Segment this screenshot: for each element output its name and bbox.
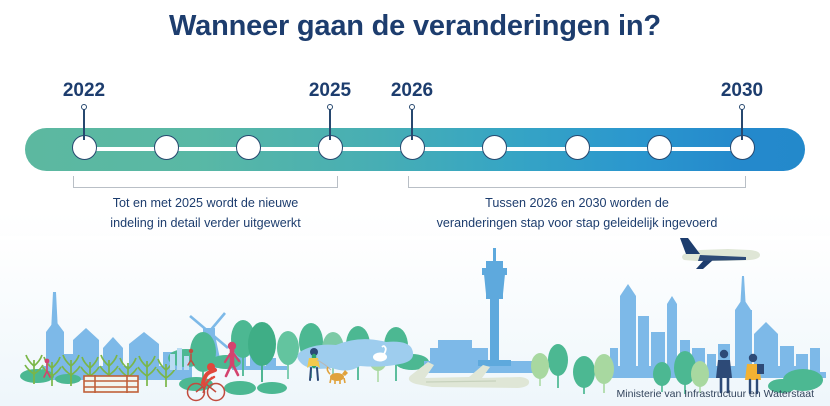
- segment-left-caption-line-2: indeling in detail verder uitgewerkt: [110, 214, 300, 234]
- leader-dot-2026: [409, 104, 415, 110]
- credit-text: Ministerie van Infrastructuur en Waterst…: [617, 388, 814, 400]
- leader-line-2025: [329, 108, 330, 140]
- segment-right-caption-line-2: veranderingen stap voor stap geleidelijk…: [437, 214, 718, 234]
- segment-left-bracket: [73, 176, 338, 188]
- timeline-node-2[interactable]: [154, 135, 179, 160]
- segment-right-bracket: [408, 176, 746, 188]
- leader-line-2022: [83, 108, 84, 140]
- timeline-node-8[interactable]: [647, 135, 672, 160]
- illustration: [0, 236, 830, 406]
- segment-right-caption-line-1: Tussen 2026 en 2030 worden de: [437, 194, 718, 214]
- segment-right-caption: Tussen 2026 en 2030 worden deverandering…: [437, 194, 718, 233]
- fence-icon: [84, 375, 138, 393]
- leader-line-2026: [411, 108, 412, 140]
- infographic-canvas: Wanneer gaan de veranderingen in? 202220…: [0, 0, 830, 406]
- timeline: 2022202520262030 Tot en met 2025 wordt d…: [0, 0, 830, 250]
- segment-left-caption-line-1: Tot en met 2025 wordt de nieuwe: [110, 194, 300, 214]
- year-label-2022: 2022: [63, 80, 105, 102]
- leader-dot-2025: [327, 104, 333, 110]
- leader-dot-2030: [739, 104, 745, 110]
- year-label-2026: 2026: [391, 80, 433, 102]
- leader-dot-2022: [81, 104, 87, 110]
- timeline-node-7[interactable]: [565, 135, 590, 160]
- leader-line-2030: [741, 108, 742, 140]
- year-label-2025: 2025: [309, 80, 351, 102]
- timeline-node-3[interactable]: [236, 135, 261, 160]
- timeline-node-6[interactable]: [482, 135, 507, 160]
- segment-left-caption: Tot en met 2025 wordt de nieuweindeling …: [110, 194, 300, 233]
- year-label-2030: 2030: [721, 80, 763, 102]
